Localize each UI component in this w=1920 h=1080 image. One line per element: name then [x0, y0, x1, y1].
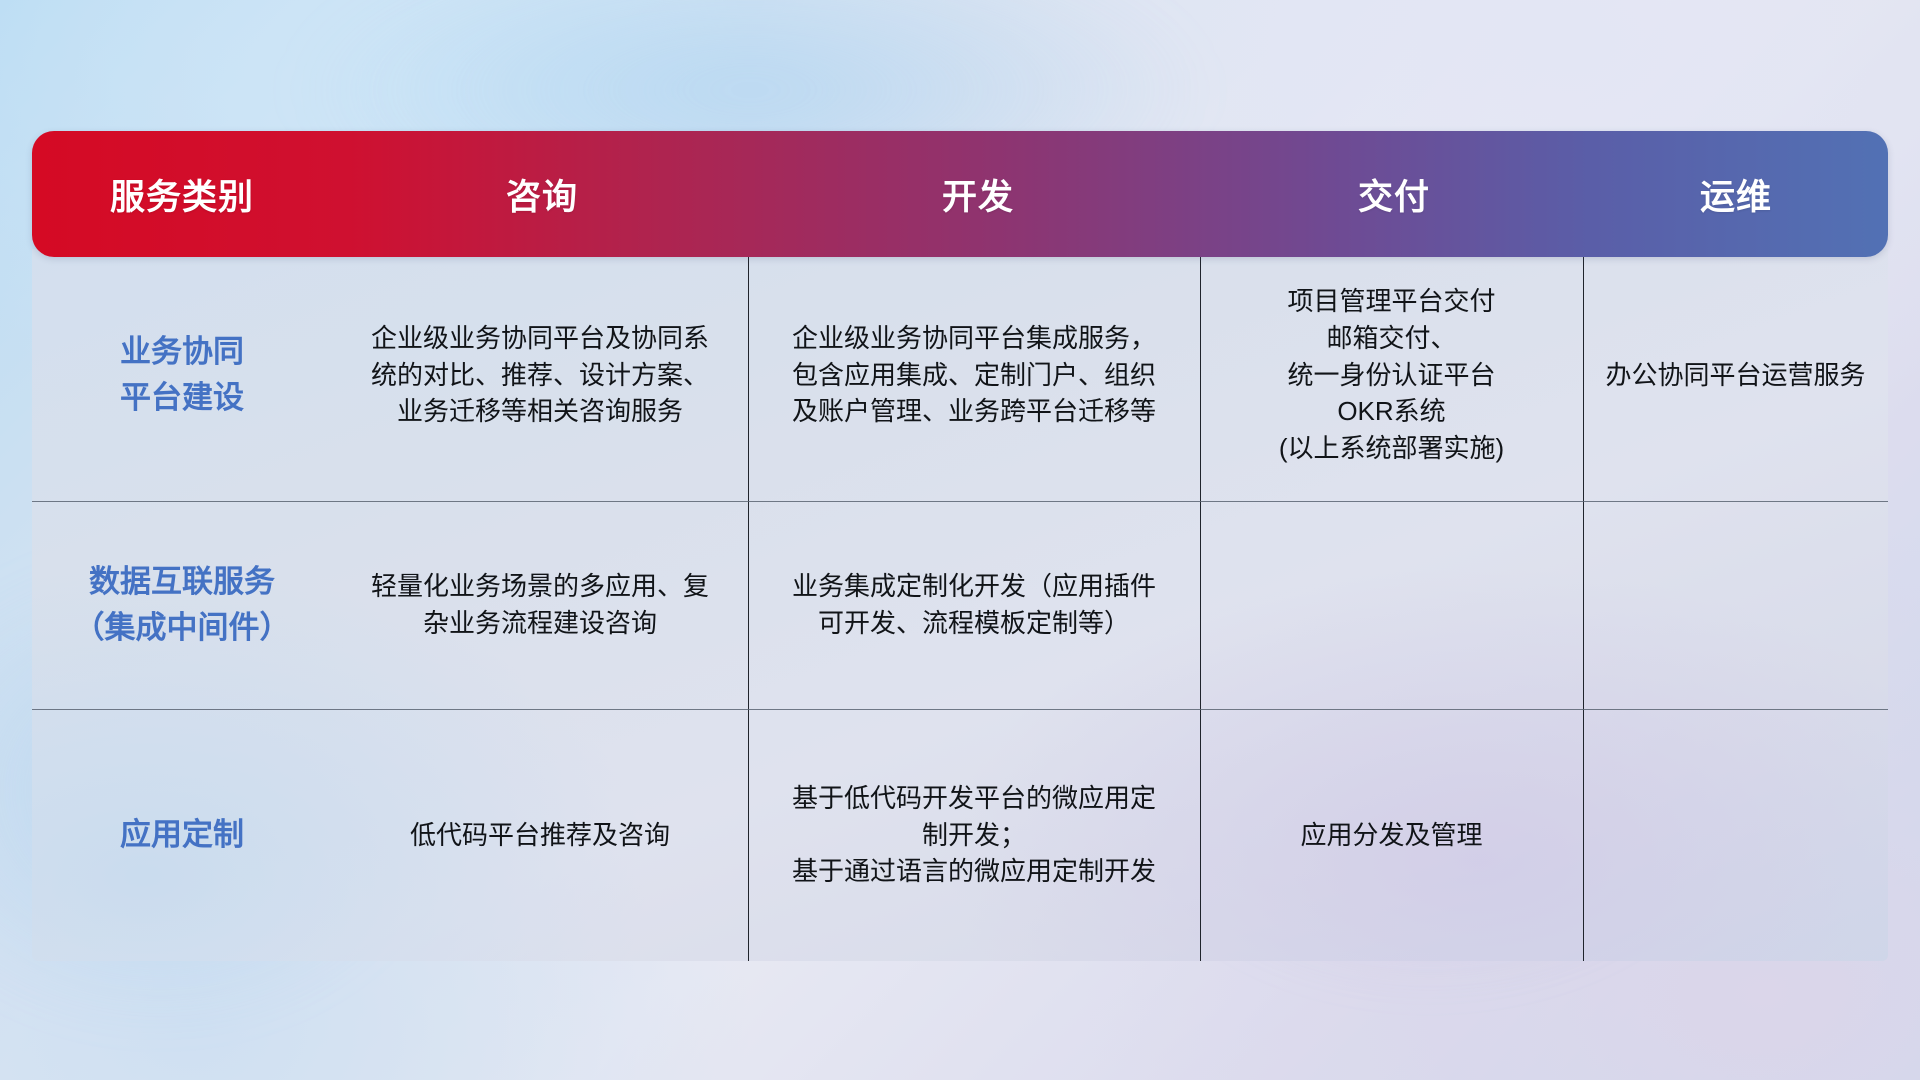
table-body: 业务协同 平台建设 企业级业务协同平台及协同系 统的对比、推荐、设计方案、 业务… [32, 249, 1888, 961]
row-divider-2 [32, 709, 1888, 710]
cell-consulting: 低代码平台推荐及咨询 [332, 709, 748, 961]
cell-delivery: 应用分发及管理 [1200, 709, 1583, 961]
column-divider-1 [748, 249, 749, 961]
cell-development: 企业级业务协同平台集成服务， 包含应用集成、定制门户、组织 及账户管理、业务跨平… [748, 249, 1200, 501]
column-header-delivery: 交付 [1204, 169, 1584, 220]
table-row: 业务协同 平台建设 企业级业务协同平台及协同系 统的对比、推荐、设计方案、 业务… [32, 249, 1888, 501]
column-header-category: 服务类别 [32, 169, 332, 220]
column-header-development: 开发 [752, 169, 1204, 220]
cell-development: 业务集成定制化开发（应用插件 可开发、流程模板定制等） [748, 501, 1200, 709]
cell-operations [1583, 501, 1888, 709]
table-row: 数据互联服务 （集成中间件） 轻量化业务场景的多应用、复 杂业务流程建设咨询 业… [32, 501, 1888, 709]
cell-development: 基于低代码开发平台的微应用定 制开发； 基于通过语言的微应用定制开发 [748, 709, 1200, 961]
row-category-label: 应用定制 [32, 709, 332, 961]
column-divider-2 [1200, 249, 1201, 961]
table-header-row: 服务类别 咨询 开发 交付 运维 [32, 131, 1888, 257]
row-divider-1 [32, 501, 1888, 502]
column-divider-3 [1583, 249, 1584, 961]
cell-consulting: 企业级业务协同平台及协同系 统的对比、推荐、设计方案、 业务迁移等相关咨询服务 [332, 249, 748, 501]
cell-delivery [1200, 501, 1583, 709]
cell-operations: 办公协同平台运营服务 [1583, 249, 1888, 501]
row-category-label: 业务协同 平台建设 [32, 249, 332, 501]
column-header-operations: 运维 [1584, 169, 1888, 220]
row-category-label: 数据互联服务 （集成中间件） [32, 501, 332, 709]
column-header-consulting: 咨询 [332, 169, 752, 220]
service-matrix-table: 服务类别 咨询 开发 交付 运维 业务协同 平台建设 企业级业务协同平台及协同系… [32, 131, 1888, 961]
cell-delivery: 项目管理平台交付 邮箱交付、 统一身份认证平台 OKR系统 (以上系统部署实施) [1200, 249, 1583, 501]
cell-consulting: 轻量化业务场景的多应用、复 杂业务流程建设咨询 [332, 501, 748, 709]
table-row: 应用定制 低代码平台推荐及咨询 基于低代码开发平台的微应用定 制开发； 基于通过… [32, 709, 1888, 961]
cell-operations [1583, 709, 1888, 961]
